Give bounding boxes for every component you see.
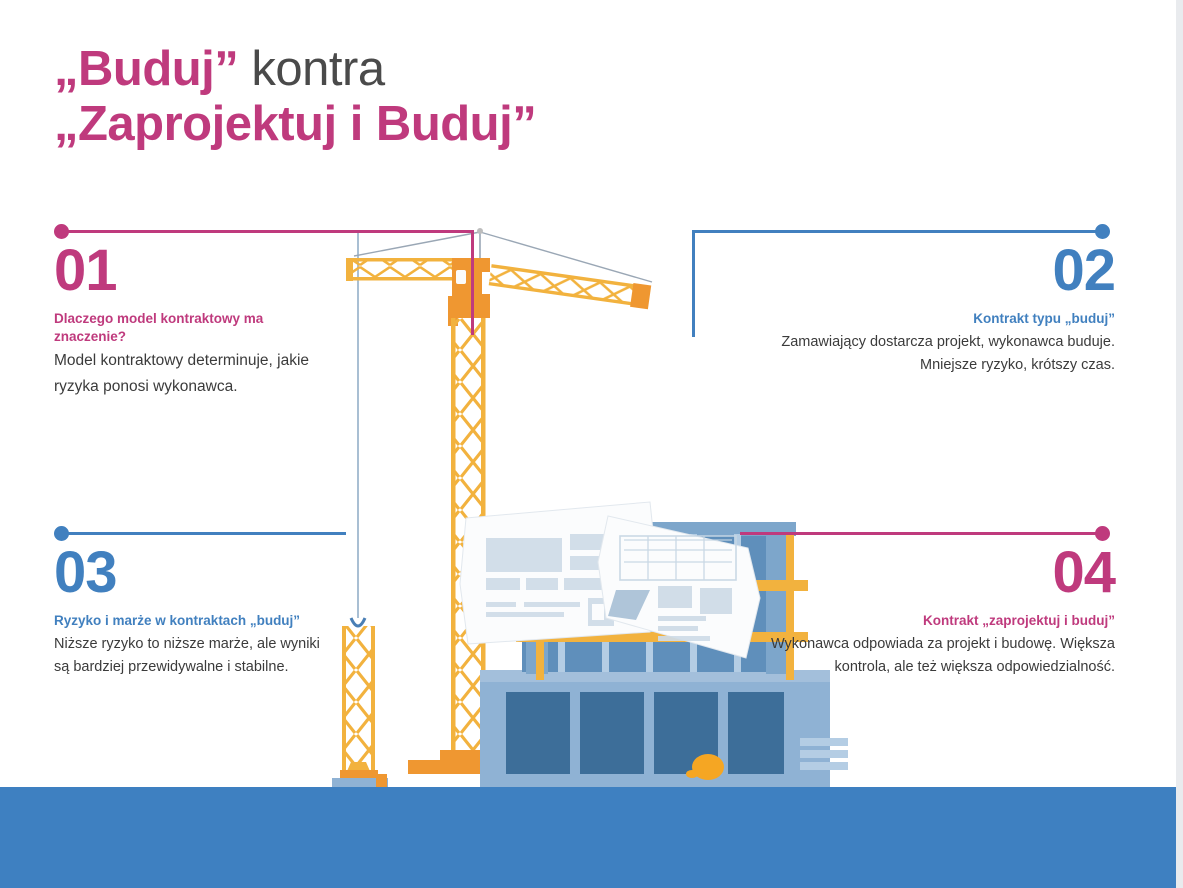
connector-dot-02	[1095, 224, 1110, 239]
item-body-02: Zamawiający dostarcza projekt, wykonawca…	[760, 331, 1115, 378]
connector-hbar-01	[60, 230, 474, 233]
connector-dot-04	[1095, 526, 1110, 541]
title-quoted-word: „Buduj”	[54, 42, 238, 96]
item-number-04: 04	[735, 545, 1115, 602]
page-title: „Buduj” kontra „Zaprojektuj i Buduj”	[54, 42, 754, 152]
connector-hbar-02	[692, 230, 1104, 233]
info-item-04: 04 Kontrakt „zaprojektuj i buduj” Wykona…	[735, 545, 1115, 680]
connector-hbar-03	[60, 532, 346, 535]
footer-band	[0, 787, 1176, 888]
item-subtitle-04: Kontrakt „zaprojektuj i buduj”	[735, 612, 1115, 630]
stacked-materials	[800, 738, 848, 770]
title-line-1: „Buduj” kontra	[54, 42, 754, 97]
hoisted-crane-section	[332, 626, 388, 788]
info-item-02: 02 Kontrakt typu „buduj” Zamawiający dos…	[760, 243, 1115, 378]
item-subtitle-01: Dlaczego model kontraktowy ma znaczenie?	[54, 310, 334, 346]
item-body-03: Niższe ryzyko to niższe marże, ale wynik…	[54, 633, 339, 680]
item-subtitle-03: Ryzyko i marże w kontraktach „buduj”	[54, 612, 339, 630]
connector-vbar-01	[471, 230, 474, 335]
title-line-2: „Zaprojektuj i Buduj”	[54, 97, 754, 152]
connector-vbar-02	[692, 230, 695, 337]
item-body-01: Model kontraktowy determinuje, jakie ryz…	[54, 348, 334, 398]
item-number-01: 01	[54, 243, 334, 300]
item-number-02: 02	[760, 243, 1115, 300]
item-subtitle-02: Kontrakt typu „buduj”	[760, 310, 1115, 328]
info-item-01: 01 Dlaczego model kontraktowy ma znaczen…	[54, 243, 334, 399]
item-number-03: 03	[54, 545, 339, 602]
title-rest-word: kontra	[238, 42, 384, 96]
item-body-04: Wykonawca odpowiada za projekt i budowę.…	[735, 633, 1115, 680]
connector-hbar-04	[740, 532, 1104, 535]
info-item-03: 03 Ryzyko i marże w kontraktach „buduj” …	[54, 545, 339, 680]
infographic-slide: „Buduj” kontra „Zaprojektuj i Buduj”	[0, 0, 1176, 888]
